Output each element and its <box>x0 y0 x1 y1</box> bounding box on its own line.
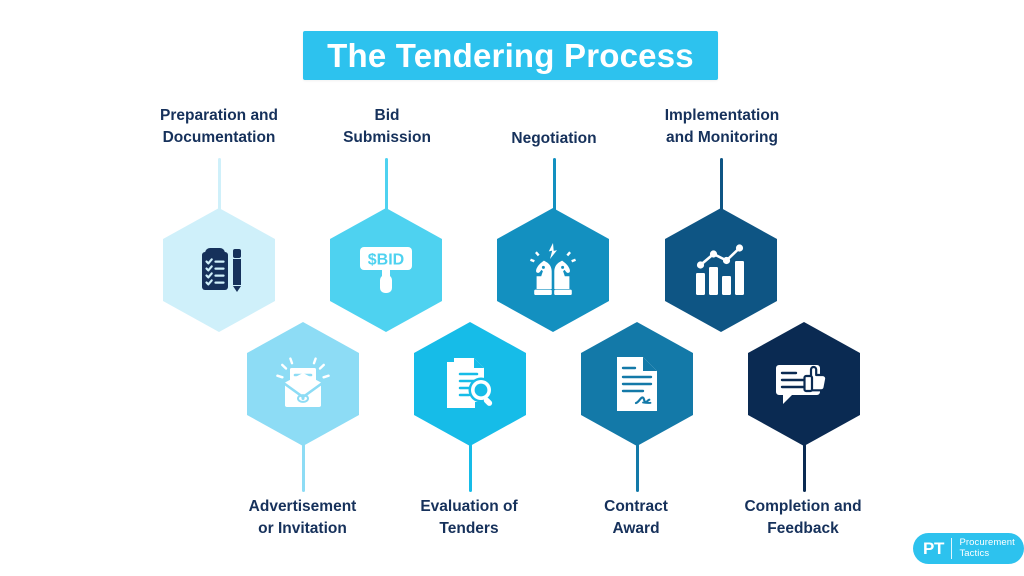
step-hexagon-contract-award[interactable] <box>581 322 693 446</box>
bid-paddle-icon: $BID <box>356 241 416 299</box>
signed-contract-icon <box>612 355 662 413</box>
connector-step-4 <box>469 444 472 492</box>
step-hexagon-advertisement-or-invitation[interactable] <box>247 322 359 446</box>
step-label-implementation-and-monitoring: Implementation and Monitoring <box>628 105 816 150</box>
logo-word-line-1: Procurement <box>959 538 1014 548</box>
step-hexagon-implementation-and-monitoring[interactable] <box>665 208 777 332</box>
logo-word-line-2: Tactics <box>959 549 1014 559</box>
step-label-evaluation-of-tenders: Evaluation of Tenders <box>381 496 557 541</box>
bar-chart-trend-icon <box>691 243 751 297</box>
step-label-bid-submission: Bid Submission <box>301 105 473 150</box>
logo-mark: PT <box>923 540 944 557</box>
step-label-negotiation: Negotiation <box>468 128 640 150</box>
connector-step-3 <box>385 158 388 216</box>
connector-step-2 <box>302 444 305 492</box>
logo-wordmark: Procurement Tactics <box>959 538 1014 559</box>
step-hexagon-completion-and-feedback[interactable] <box>748 322 860 446</box>
chess-knights-negotiation-icon <box>522 241 584 299</box>
logo-divider <box>951 538 953 559</box>
connector-step-8 <box>803 444 806 492</box>
connector-step-1 <box>218 158 221 216</box>
step-label-completion-and-feedback: Completion and Feedback <box>712 496 894 541</box>
step-label-preparation-and-documentation: Preparation and Documentation <box>124 105 314 150</box>
step-hexagon-evaluation-of-tenders[interactable] <box>414 322 526 446</box>
document-magnifier-icon <box>441 356 499 412</box>
step-label-advertisement-or-invitation: Advertisement or Invitation <box>210 496 395 541</box>
connector-step-5 <box>553 158 556 216</box>
step-hexagon-negotiation[interactable] <box>497 208 609 332</box>
feedback-thumbsup-icon <box>775 357 833 411</box>
step-label-contract-award: Contract Award <box>551 496 721 541</box>
svg-text:$BID: $BID <box>368 251 404 268</box>
procurement-tactics-logo[interactable]: PT Procurement Tactics <box>913 533 1024 564</box>
connector-step-6 <box>636 444 639 492</box>
step-hexagon-bid-submission[interactable]: $BID <box>330 208 442 332</box>
infographic-canvas: The Tendering Process Preparation and Do… <box>0 0 1024 576</box>
announcement-envelope-icon <box>273 356 333 412</box>
page-title: The Tendering Process <box>327 39 694 72</box>
connector-step-7 <box>720 158 723 216</box>
page-title-banner: The Tendering Process <box>303 31 718 80</box>
step-hexagon-preparation-and-documentation[interactable] <box>163 208 275 332</box>
clipboard-pen-icon <box>191 242 247 298</box>
